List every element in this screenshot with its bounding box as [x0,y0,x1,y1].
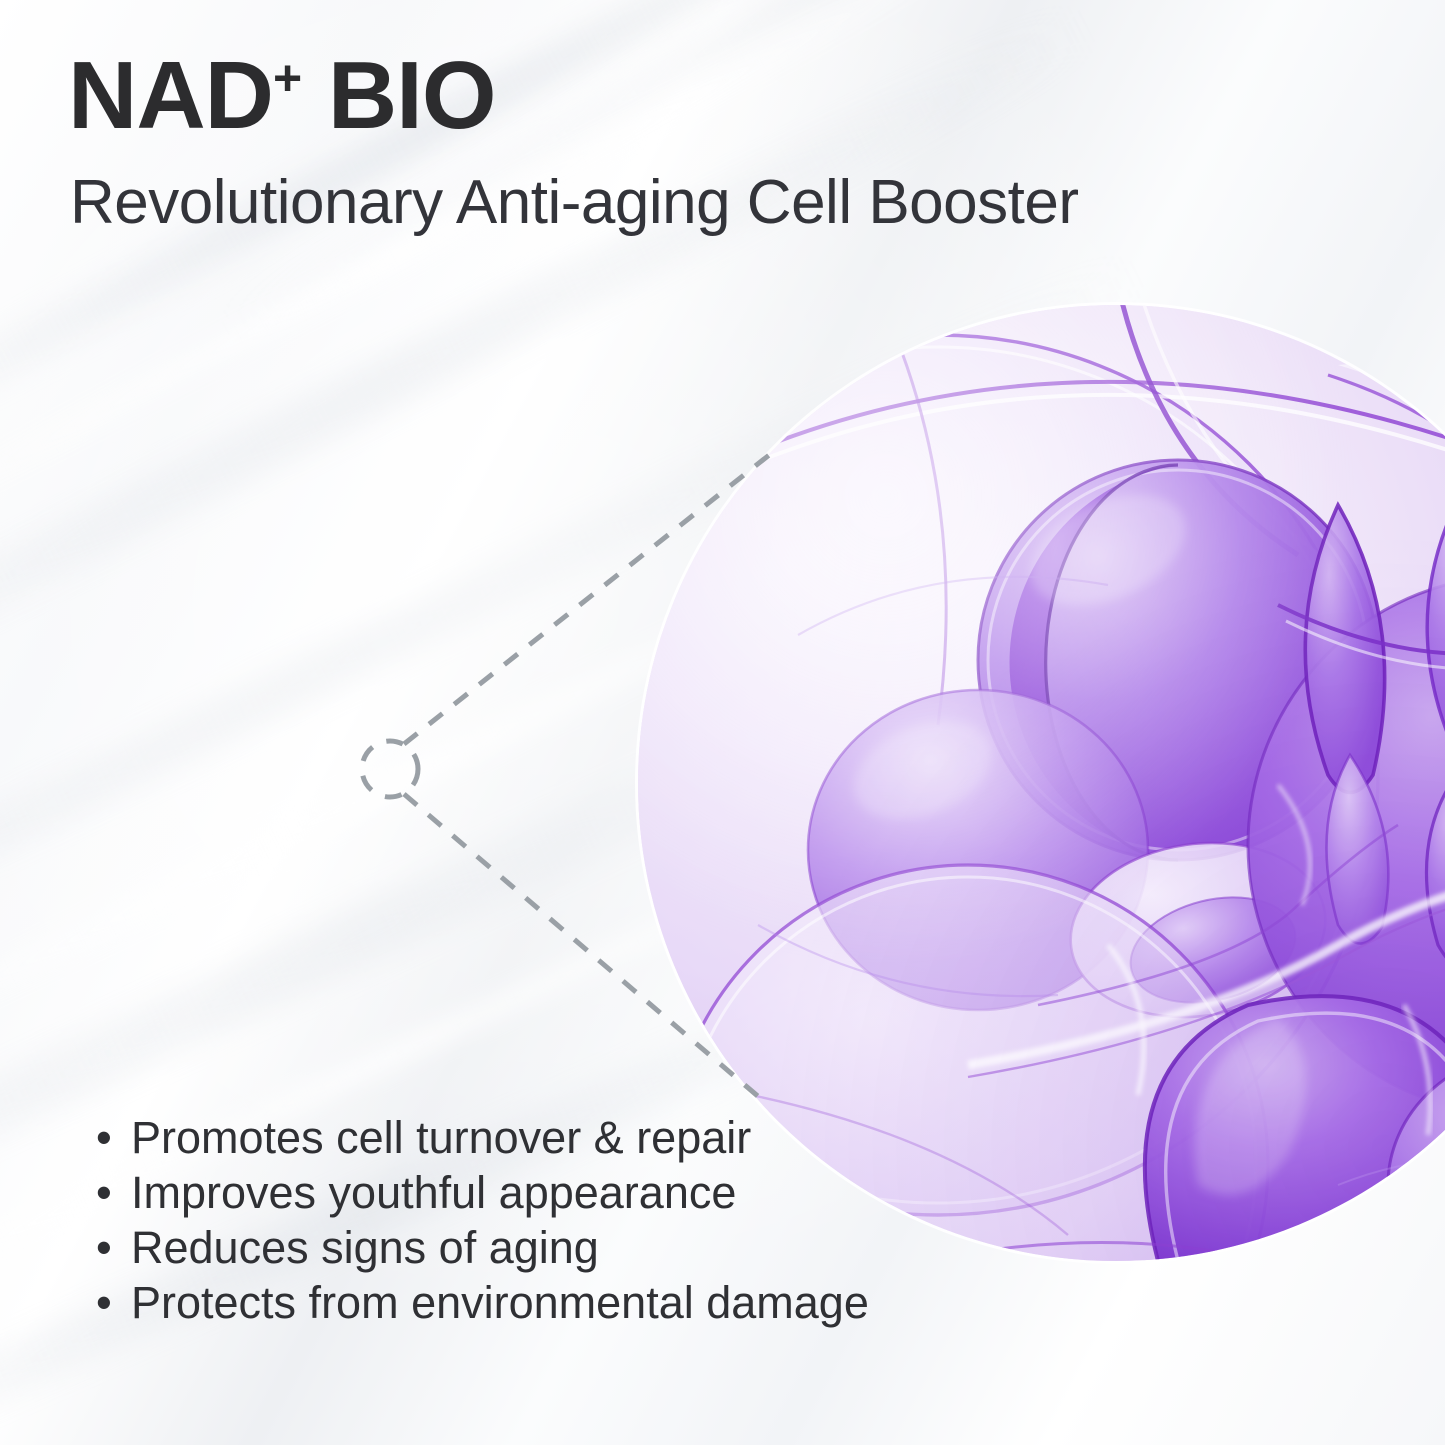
benefit-text: Protects from environmental damage [131,1277,869,1328]
list-item: • Promotes cell turnover & repair [96,1110,869,1165]
bullet-icon: • [96,1275,112,1330]
page-subtitle: Revolutionary Anti-aging Cell Booster [70,168,1079,237]
list-item: • Reduces signs of aging [96,1220,869,1275]
title-suffix: BIO [302,42,495,149]
benefit-text: Improves youthful appearance [131,1167,736,1218]
page-title: NAD+ BIO [68,48,495,144]
title-main: NAD [68,42,273,149]
bullet-icon: • [96,1110,112,1165]
benefit-text: Reduces signs of aging [131,1222,599,1273]
title-superscript: + [273,50,302,106]
benefit-text: Promotes cell turnover & repair [131,1112,751,1163]
bullet-icon: • [96,1220,112,1275]
bullet-icon: • [96,1165,112,1220]
benefits-list: • Promotes cell turnover & repair • Impr… [96,1110,869,1330]
product-poster: NAD+ BIO Revolutionary Anti-aging Cell B… [0,0,1445,1445]
list-item: • Protects from environmental damage [96,1275,869,1330]
list-item: • Improves youthful appearance [96,1165,869,1220]
